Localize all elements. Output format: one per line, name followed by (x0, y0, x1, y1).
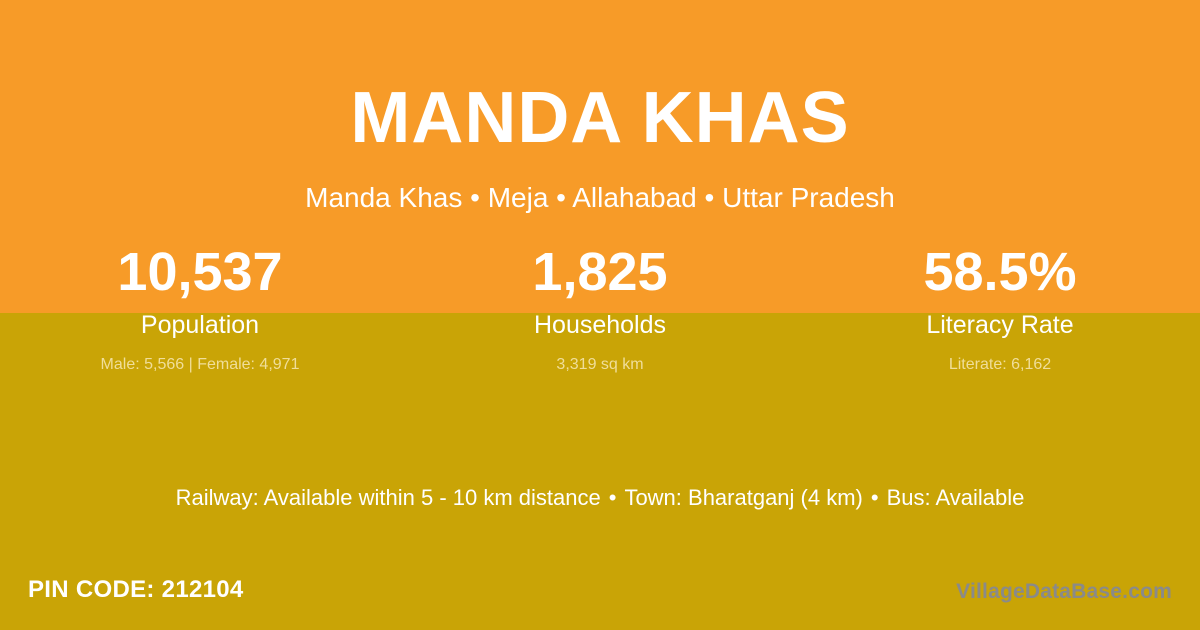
stat-value: 10,537 (0, 244, 400, 301)
stat-subtext: Literate: 6,162 (800, 355, 1200, 374)
breadcrumb: Manda Khas • Meja • Allahabad • Uttar Pr… (0, 181, 1200, 215)
stats-row: 10,537 Population Male: 5,566 | Female: … (0, 244, 1200, 374)
stat-subtext: 3,319 sq km (400, 355, 800, 374)
amenity-railway: Railway: Available within 5 - 10 km dist… (176, 485, 601, 510)
page-title: MANDA KHAS (0, 82, 1200, 154)
pin-code: PIN CODE: 212104 (28, 576, 244, 605)
stat-value: 58.5% (800, 244, 1200, 301)
stat-literacy-rate: 58.5% Literacy Rate Literate: 6,162 (800, 244, 1200, 374)
stat-label: Literacy Rate (800, 310, 1200, 340)
amenity-bus: Bus: Available (887, 485, 1025, 510)
site-branding: VillageDataBase.com (956, 579, 1172, 604)
village-info-card: MANDA KHAS Manda Khas • Meja • Allahabad… (0, 0, 1200, 630)
stat-population: 10,537 Population Male: 5,566 | Female: … (0, 244, 400, 374)
stat-label: Population (0, 310, 400, 340)
stat-households: 1,825 Households 3,319 sq km (400, 244, 800, 374)
amenities-line: Railway: Available within 5 - 10 km dist… (0, 485, 1200, 511)
amenity-town: Town: Bharatganj (4 km) (624, 485, 862, 510)
stat-label: Households (400, 310, 800, 340)
amenity-separator: • (601, 485, 625, 510)
stat-value: 1,825 (400, 244, 800, 301)
amenity-separator: • (863, 485, 887, 510)
stat-subtext: Male: 5,566 | Female: 4,971 (0, 355, 400, 374)
